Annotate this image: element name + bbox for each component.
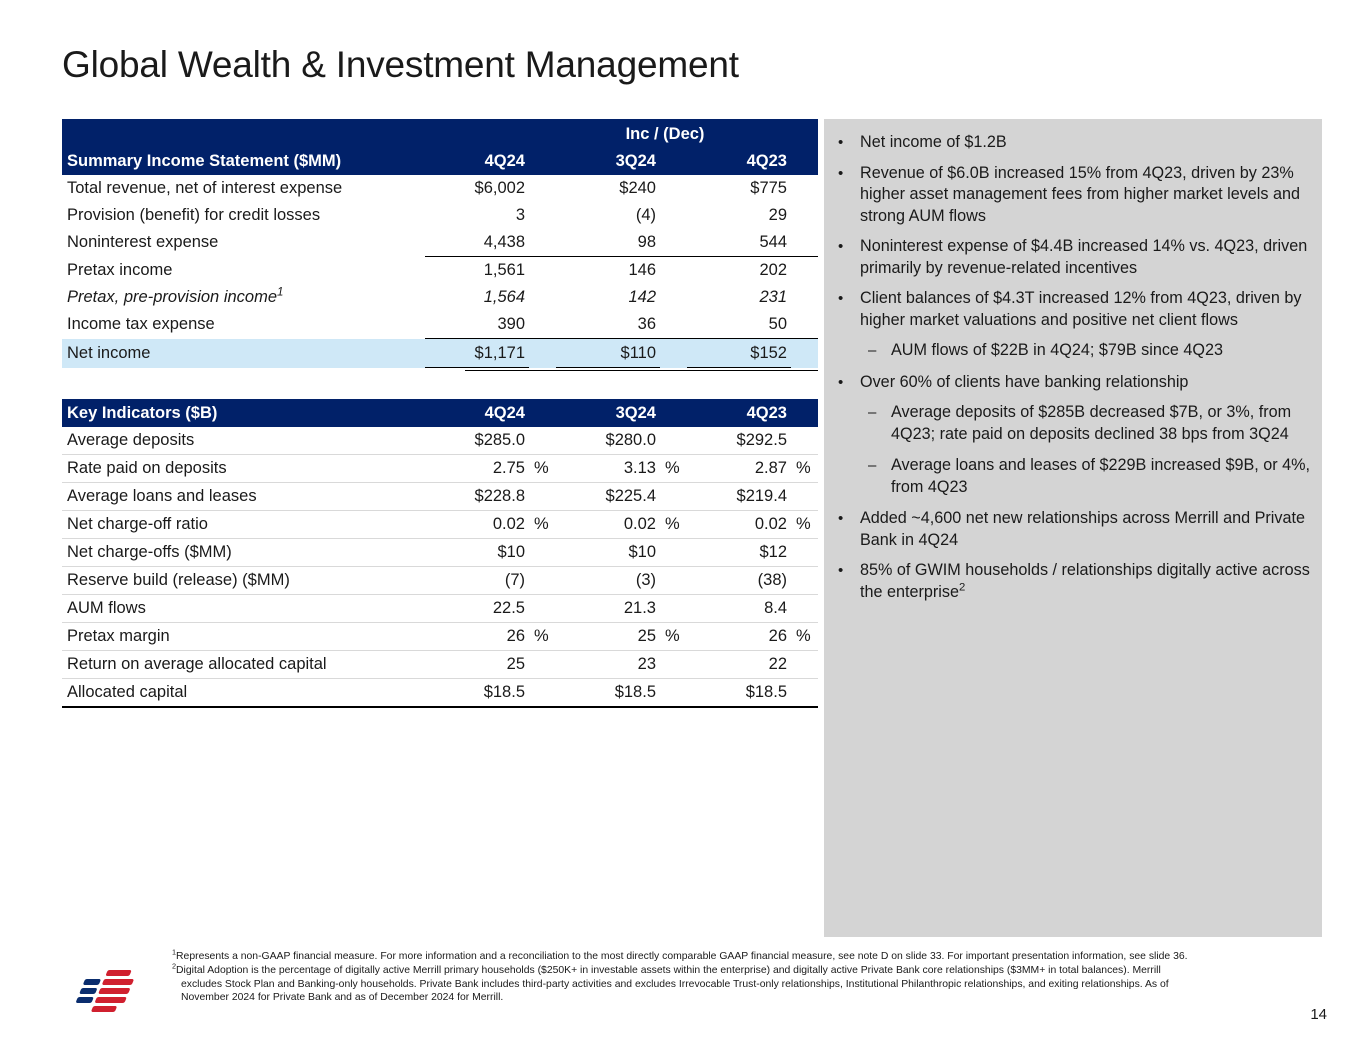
row-value-4q24: 3 xyxy=(425,202,529,229)
list-item-text: Over 60% of clients have banking relatio… xyxy=(860,372,1316,394)
income-inc-dec-header: Inc / (Dec) xyxy=(556,119,818,147)
row-label: Total revenue, net of interest expense xyxy=(62,175,425,202)
row-unit-4q23 xyxy=(791,539,818,567)
footnote-1: 1Represents a non-GAAP financial measure… xyxy=(172,950,1308,964)
row-value-3q24: (3) xyxy=(556,567,660,595)
row-value-4q23: $18.5 xyxy=(687,679,791,708)
row-value-3q24: 0.02 xyxy=(556,511,660,539)
table-row: Net charge-off ratio 0.02 % 0.02 % 0.02 … xyxy=(62,511,818,539)
row-value-4q23: $775 xyxy=(687,175,791,202)
list-item-sub: – Average deposits of $285B decreased $7… xyxy=(838,402,1316,445)
list-item: • Added ~4,600 net new relationships acr… xyxy=(838,508,1316,551)
row-value-4q24: 390 xyxy=(425,311,529,339)
income-header-4q23: 4Q23 xyxy=(687,147,791,175)
row-value-3q24: $225.4 xyxy=(556,483,660,511)
footnote-2-text-line2: excludes Stock Plan and Banking-only hou… xyxy=(172,978,1308,992)
row-unit-4q23: % xyxy=(791,511,818,539)
row-label: Pretax income xyxy=(62,257,425,285)
list-item-text: Average deposits of $285B decreased $7B,… xyxy=(891,402,1316,445)
key-table-header-row: Key Indicators ($B) 4Q24 3Q24 4Q23 xyxy=(62,399,818,427)
row-value-4q24: $285.0 xyxy=(425,427,529,455)
list-item-footnote-marker: 2 xyxy=(959,581,965,593)
row-value-4q24: $228.8 xyxy=(425,483,529,511)
row-unit-4q23 xyxy=(791,567,818,595)
list-item: • Revenue of $6.0B increased 15% from 4Q… xyxy=(838,163,1316,228)
row-unit-4q24: % xyxy=(529,455,556,483)
footnote-2-text-line3: November 2024 for Private Bank and as of… xyxy=(172,991,1308,1005)
row-value-4q24: $18.5 xyxy=(425,679,529,708)
list-item: • Over 60% of clients have banking relat… xyxy=(838,372,1316,394)
bullet-marker-icon: • xyxy=(838,163,860,228)
table-row: Rate paid on deposits 2.75 % 3.13 % 2.87… xyxy=(62,455,818,483)
row-unit-4q24 xyxy=(529,539,556,567)
bullet-marker-icon: • xyxy=(838,236,860,279)
row-value-3q24: 23 xyxy=(556,651,660,679)
row-value-3q24: 3.13 xyxy=(556,455,660,483)
row-value-4q24: $1,171 xyxy=(425,339,529,368)
footnote-2: 2Digital Adoption is the percentage of d… xyxy=(172,964,1308,978)
dash-marker-icon: – xyxy=(868,455,891,498)
bank-of-america-logo xyxy=(64,967,168,1025)
row-value-4q23: 22 xyxy=(687,651,791,679)
list-item-text: 85% of GWIM households / relationships d… xyxy=(860,560,1316,603)
row-unit-3q24 xyxy=(660,595,687,623)
list-item: • Client balances of $4.3T increased 12%… xyxy=(838,288,1316,331)
row-value-3q24: 142 xyxy=(556,284,660,311)
row-value-4q24: 1,561 xyxy=(425,257,529,285)
row-label: Pretax margin xyxy=(62,623,425,651)
income-header-4q24: 4Q24 xyxy=(425,147,529,175)
row-unit-3q24 xyxy=(660,483,687,511)
row-value-3q24: $110 xyxy=(556,339,660,368)
row-label: Allocated capital xyxy=(62,679,425,708)
row-label: Net income xyxy=(62,339,425,368)
row-label: Net charge-off ratio xyxy=(62,511,425,539)
row-value-4q24: 0.02 xyxy=(425,511,529,539)
list-item-text: Net income of $1.2B xyxy=(860,132,1316,154)
page-title: Global Wealth & Investment Management xyxy=(62,44,739,86)
row-value-3q24: 21.3 xyxy=(556,595,660,623)
row-unit-4q24 xyxy=(529,427,556,455)
row-value-4q24: 25 xyxy=(425,651,529,679)
row-value-4q23: $219.4 xyxy=(687,483,791,511)
bullet-marker-icon: • xyxy=(838,132,860,154)
row-value-4q24: 2.75 xyxy=(425,455,529,483)
row-unit-3q24 xyxy=(660,427,687,455)
row-value-4q23: (38) xyxy=(687,567,791,595)
row-label: AUM flows xyxy=(62,595,425,623)
dash-marker-icon: – xyxy=(868,402,891,445)
table-row: Net charge-offs ($MM) $10 $10 $12 xyxy=(62,539,818,567)
bullet-marker-icon: • xyxy=(838,372,860,394)
row-unit-4q23 xyxy=(791,651,818,679)
table-row: Total revenue, net of interest expense $… xyxy=(62,175,818,202)
table-row: AUM flows 22.5 21.3 8.4 xyxy=(62,595,818,623)
key-table-title: Key Indicators ($B) xyxy=(62,399,425,427)
list-item-text-main: 85% of GWIM households / relationships d… xyxy=(860,561,1310,601)
key-header-3q24: 3Q24 xyxy=(556,399,660,427)
row-value-4q23: 0.02 xyxy=(687,511,791,539)
list-item: • 85% of GWIM households / relationships… xyxy=(838,560,1316,603)
row-label: Noninterest expense xyxy=(62,229,425,257)
row-label: Rate paid on deposits xyxy=(62,455,425,483)
net-income-double-rule xyxy=(465,370,818,371)
row-value-3q24: $280.0 xyxy=(556,427,660,455)
row-unit-3q24: % xyxy=(660,455,687,483)
row-value-4q24: 4,438 xyxy=(425,229,529,257)
row-value-4q24: 22.5 xyxy=(425,595,529,623)
list-item-sub: – AUM flows of $22B in 4Q24; $79B since … xyxy=(838,340,1316,362)
key-header-4q23: 4Q23 xyxy=(687,399,791,427)
key-header-4q24: 4Q24 xyxy=(425,399,529,427)
row-value-3q24: 25 xyxy=(556,623,660,651)
row-unit-4q23 xyxy=(791,679,818,708)
footnote-1-text: Represents a non-GAAP financial measure.… xyxy=(176,951,1188,962)
row-label: Return on average allocated capital xyxy=(62,651,425,679)
row-label: Average deposits xyxy=(62,427,425,455)
row-unit-4q24 xyxy=(529,483,556,511)
list-item-text: Client balances of $4.3T increased 12% f… xyxy=(860,288,1316,331)
row-unit-3q24 xyxy=(660,567,687,595)
table-row: Pretax, pre-provision income1 1,564 142 … xyxy=(62,284,818,311)
row-value-4q23: $152 xyxy=(687,339,791,368)
bullet-marker-icon: • xyxy=(838,288,860,331)
row-unit-4q23 xyxy=(791,427,818,455)
row-label: Provision (benefit) for credit losses xyxy=(62,202,425,229)
row-unit-4q24: % xyxy=(529,511,556,539)
row-value-3q24: $18.5 xyxy=(556,679,660,708)
bullet-marker-icon: • xyxy=(838,560,860,603)
row-unit-4q23 xyxy=(791,595,818,623)
row-value-4q24: $10 xyxy=(425,539,529,567)
income-table-header-row: Summary Income Statement ($MM) 4Q24 3Q24… xyxy=(62,147,818,175)
row-label: Reserve build (release) ($MM) xyxy=(62,567,425,595)
row-unit-4q24 xyxy=(529,567,556,595)
row-value-3q24: 98 xyxy=(556,229,660,257)
row-unit-4q24: % xyxy=(529,623,556,651)
footnote-2-text-line1: Digital Adoption is the percentage of di… xyxy=(176,965,1161,976)
list-item-text: Revenue of $6.0B increased 15% from 4Q23… xyxy=(860,163,1316,228)
row-value-3q24: $240 xyxy=(556,175,660,202)
row-label: Income tax expense xyxy=(62,311,425,339)
row-unit-3q24 xyxy=(660,679,687,708)
income-header-3q24: 3Q24 xyxy=(556,147,660,175)
table-row: Reserve build (release) ($MM) (7) (3) (3… xyxy=(62,567,818,595)
table-row: Noninterest expense 4,438 98 544 xyxy=(62,229,818,257)
list-item-text: Noninterest expense of $4.4B increased 1… xyxy=(860,236,1316,279)
table-row: Return on average allocated capital 25 2… xyxy=(62,651,818,679)
row-unit-4q24 xyxy=(529,595,556,623)
row-value-4q23: 8.4 xyxy=(687,595,791,623)
row-value-3q24: $10 xyxy=(556,539,660,567)
row-label: Net charge-offs ($MM) xyxy=(62,539,425,567)
list-item-sub: – Average loans and leases of $229B incr… xyxy=(838,455,1316,498)
table-row: Provision (benefit) for credit losses 3 … xyxy=(62,202,818,229)
list-item-text: Added ~4,600 net new relationships acros… xyxy=(860,508,1316,551)
row-unit-4q23: % xyxy=(791,623,818,651)
list-item: • Noninterest expense of $4.4B increased… xyxy=(838,236,1316,279)
highlights-bullet-list: • Net income of $1.2B • Revenue of $6.0B… xyxy=(838,132,1316,612)
footnotes: 1Represents a non-GAAP financial measure… xyxy=(172,950,1308,1005)
table-row: Pretax income 1,561 146 202 xyxy=(62,257,818,285)
income-table-spanning-header-row: Inc / (Dec) xyxy=(62,119,818,147)
row-unit-3q24: % xyxy=(660,511,687,539)
row-value-4q24: (7) xyxy=(425,567,529,595)
key-indicators-table: Key Indicators ($B) 4Q24 3Q24 4Q23 Avera… xyxy=(62,399,818,708)
row-value-4q24: 26 xyxy=(425,623,529,651)
list-item-text: AUM flows of $22B in 4Q24; $79B since 4Q… xyxy=(891,340,1316,362)
row-value-4q23: 202 xyxy=(687,257,791,285)
dash-marker-icon: – xyxy=(868,340,891,362)
table-row: Average deposits $285.0 $280.0 $292.5 xyxy=(62,427,818,455)
row-label: Pretax, pre-provision income xyxy=(67,288,277,306)
row-value-4q23: 29 xyxy=(687,202,791,229)
row-unit-4q23: % xyxy=(791,455,818,483)
row-label-footnote-marker: 1 xyxy=(277,287,283,299)
row-unit-3q24 xyxy=(660,651,687,679)
row-unit-3q24 xyxy=(660,539,687,567)
row-value-4q23: 26 xyxy=(687,623,791,651)
row-value-4q23: 50 xyxy=(687,311,791,339)
table-row: Allocated capital $18.5 $18.5 $18.5 xyxy=(62,679,818,708)
row-value-3q24: 146 xyxy=(556,257,660,285)
row-value-4q24: $6,002 xyxy=(425,175,529,202)
income-table-title: Summary Income Statement ($MM) xyxy=(62,147,425,175)
row-value-3q24: (4) xyxy=(556,202,660,229)
row-unit-4q23 xyxy=(791,483,818,511)
list-item-text: Average loans and leases of $229B increa… xyxy=(891,455,1316,498)
row-value-4q23: 544 xyxy=(687,229,791,257)
table-row: Pretax margin 26 % 25 % 26 % xyxy=(62,623,818,651)
list-item: • Net income of $1.2B xyxy=(838,132,1316,154)
row-unit-4q24 xyxy=(529,679,556,708)
row-value-4q23: 231 xyxy=(687,284,791,311)
row-value-4q23: $292.5 xyxy=(687,427,791,455)
table-row-net-income: Net income $1,171 $110 $152 xyxy=(62,339,818,368)
row-unit-3q24: % xyxy=(660,623,687,651)
row-value-4q23: $12 xyxy=(687,539,791,567)
table-row: Average loans and leases $228.8 $225.4 $… xyxy=(62,483,818,511)
page-number: 14 xyxy=(1310,1006,1327,1023)
row-value-4q23: 2.87 xyxy=(687,455,791,483)
row-value-3q24: 36 xyxy=(556,311,660,339)
bullet-marker-icon: • xyxy=(838,508,860,551)
table-row: Income tax expense 390 36 50 xyxy=(62,311,818,339)
summary-income-statement-table: Inc / (Dec) Summary Income Statement ($M… xyxy=(62,119,818,368)
row-value-4q24: 1,564 xyxy=(425,284,529,311)
row-label: Average loans and leases xyxy=(62,483,425,511)
row-unit-4q24 xyxy=(529,651,556,679)
